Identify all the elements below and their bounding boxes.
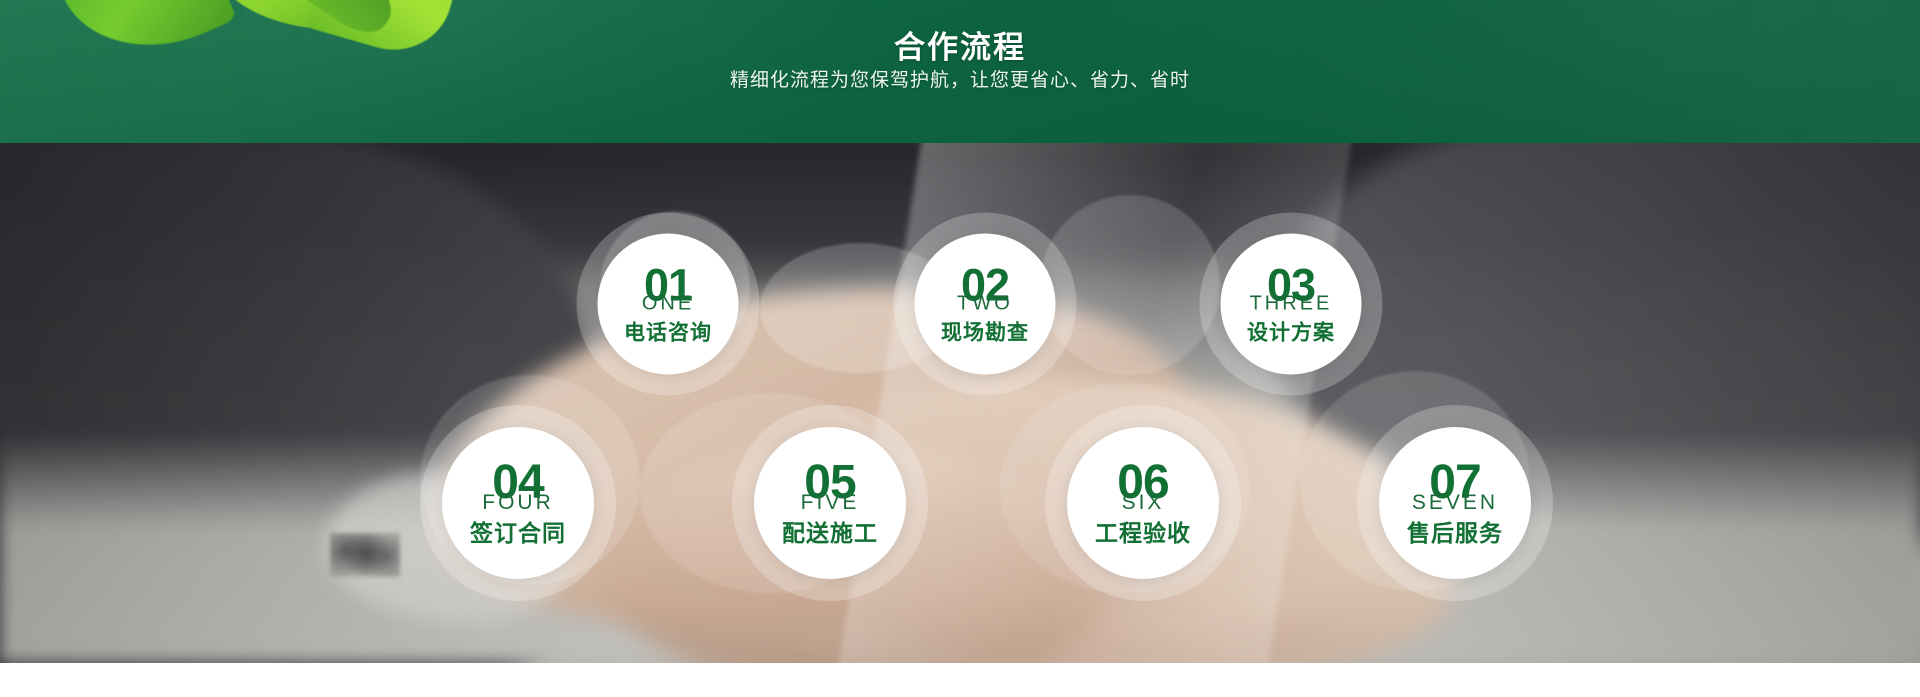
step-disc: 02 TWO 现场勘查 <box>915 234 1056 375</box>
step-disc: 06 SIX 工程验收 <box>1067 427 1219 579</box>
step-english: THREE <box>1250 293 1333 313</box>
step-disc: 04 FOUR 签订合同 <box>442 427 594 579</box>
page-bottom-strip <box>0 663 1920 697</box>
step-english: FOUR <box>482 492 554 513</box>
cooperation-process-page: 合作流程 精细化流程为您保驾护航，让您更省心、省力、省时 01 ONE <box>0 0 1920 697</box>
step-english: SIX <box>1122 492 1165 513</box>
step-label: 签订合同 <box>470 522 566 545</box>
page-header-banner: 合作流程 精细化流程为您保驾护航，让您更省心、省力、省时 <box>0 0 1920 143</box>
step-disc: 07 SEVEN 售后服务 <box>1379 427 1531 579</box>
page-subtitle: 精细化流程为您保驾护航，让您更省心、省力、省时 <box>0 65 1920 92</box>
step-label: 工程验收 <box>1095 522 1191 545</box>
photo-sleeve-buttons <box>330 533 400 577</box>
step-english: SEVEN <box>1412 492 1498 513</box>
step-label: 设计方案 <box>1247 322 1335 343</box>
page-title: 合作流程 <box>0 22 1920 67</box>
process-stage: 01 ONE 电话咨询 02 TWO 现场勘查 03 THREE 设计方案 <box>0 143 1920 663</box>
step-disc: 03 THREE 设计方案 <box>1221 234 1362 375</box>
step-english: FIVE <box>801 492 860 513</box>
photo-floor <box>0 433 1920 663</box>
step-english: ONE <box>642 293 694 313</box>
step-label: 售后服务 <box>1407 522 1503 545</box>
step-disc: 05 FIVE 配送施工 <box>754 427 906 579</box>
step-english: TWO <box>957 293 1013 313</box>
step-disc: 01 ONE 电话咨询 <box>598 234 739 375</box>
step-label: 配送施工 <box>782 522 878 545</box>
step-label: 现场勘查 <box>941 322 1029 343</box>
step-label: 电话咨询 <box>624 322 712 343</box>
leaf-stem-icon <box>93 0 170 1</box>
